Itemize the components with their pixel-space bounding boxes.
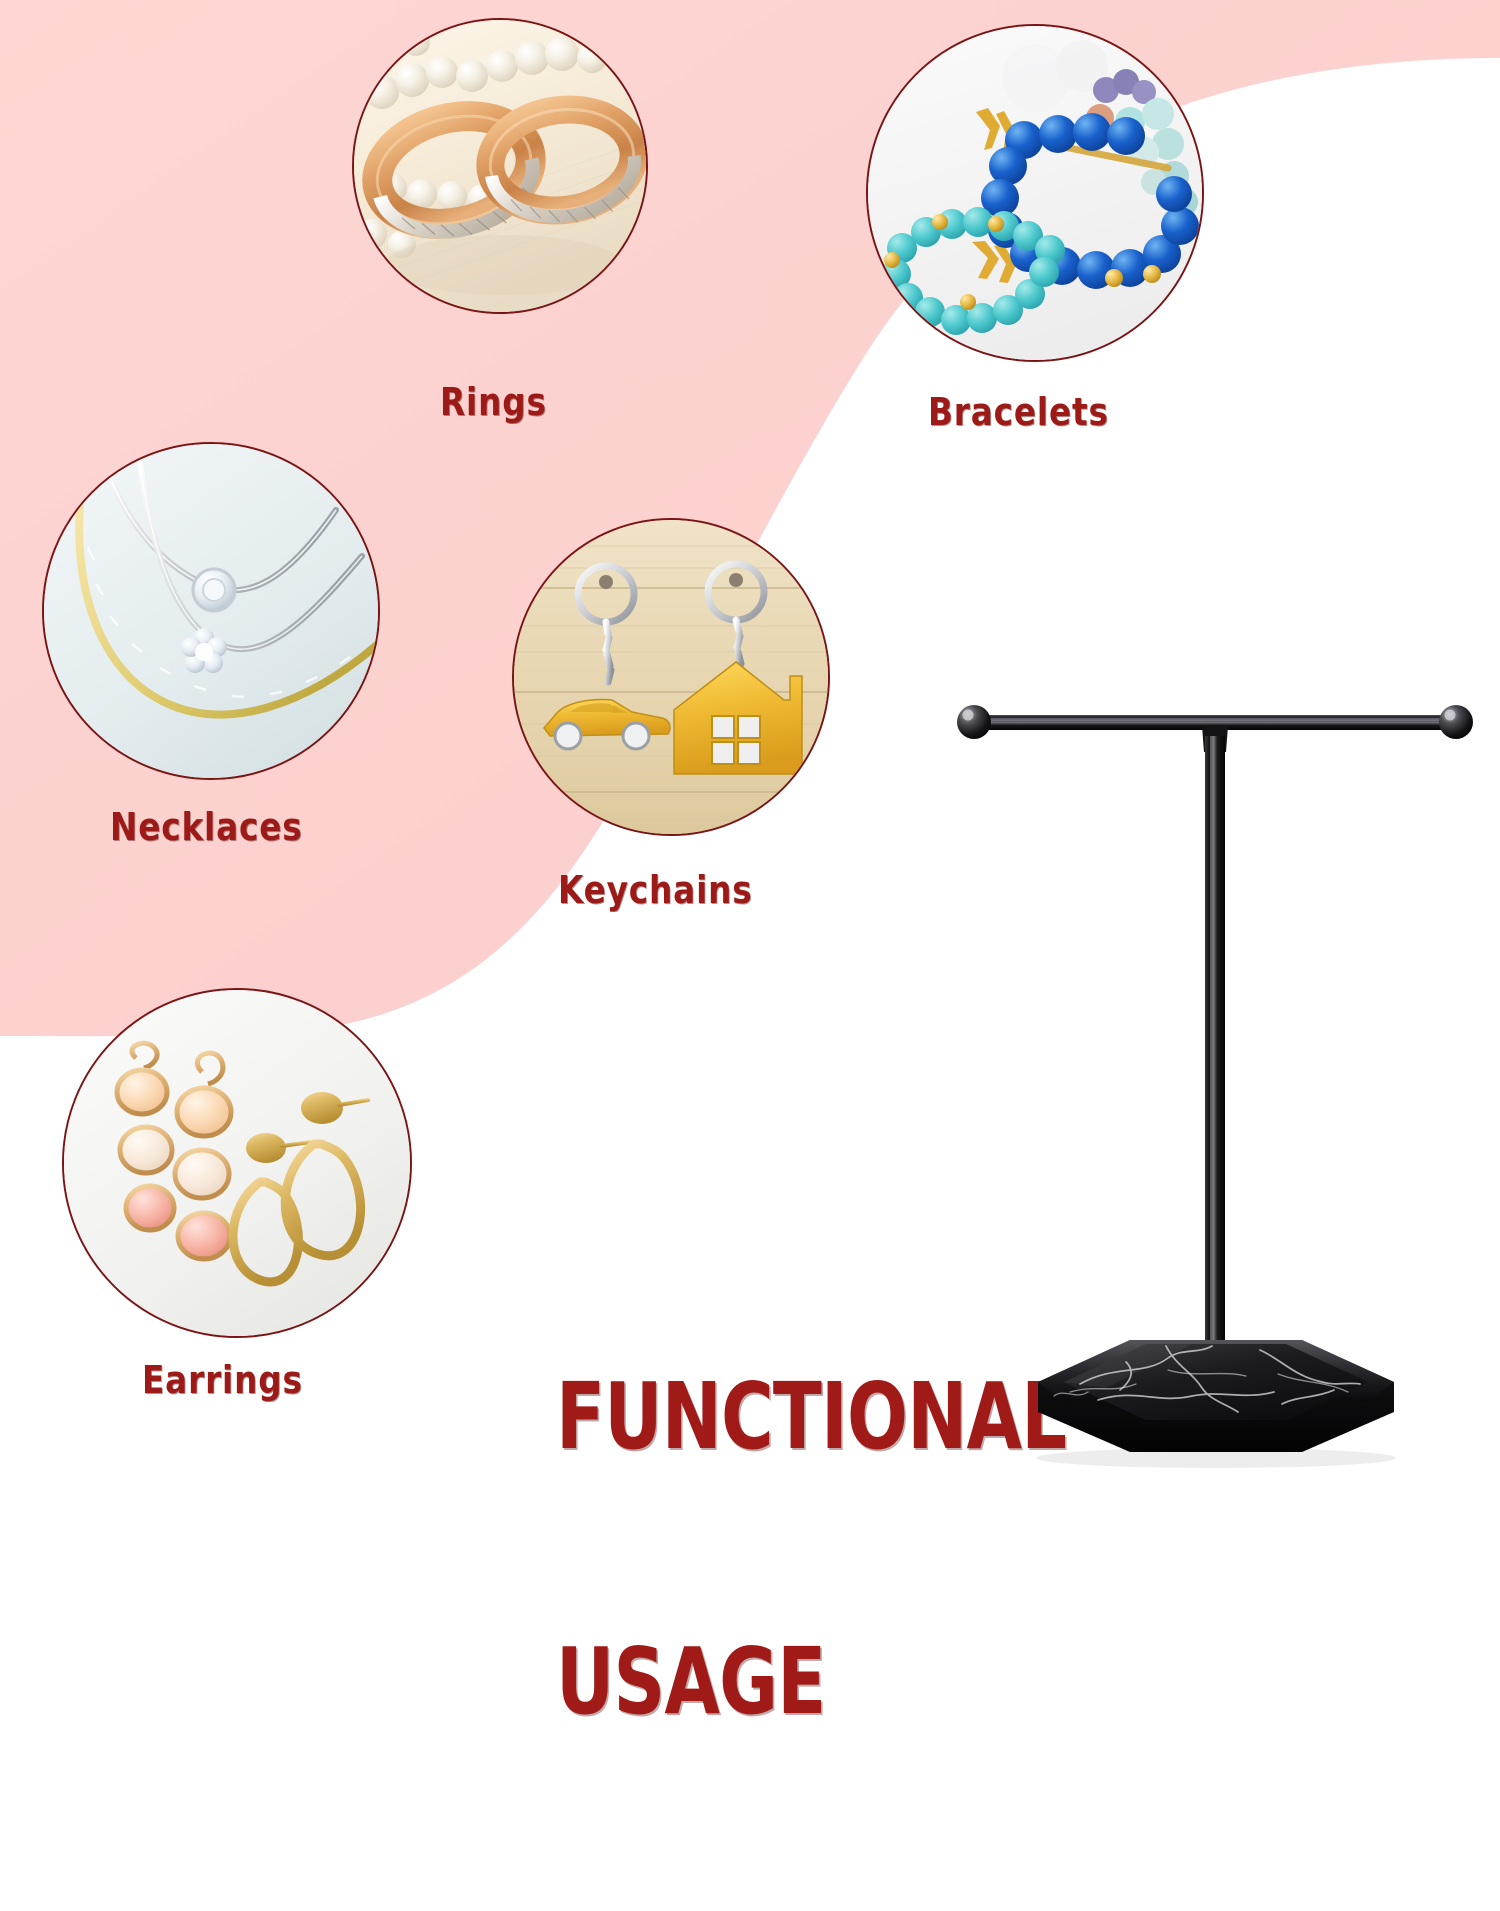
rings-photo — [354, 20, 648, 314]
category-tile-earrings[interactable] — [62, 988, 412, 1338]
necklaces-photo — [44, 444, 380, 780]
category-label-necklaces: Necklaces — [110, 805, 303, 849]
headline-line-2: USAGE — [556, 1638, 1066, 1726]
category-tile-rings[interactable] — [352, 18, 648, 314]
keychains-photo — [514, 520, 830, 836]
product-image-t-bar-jewelry-stand[interactable] — [930, 640, 1500, 1500]
category-tile-necklaces[interactable] — [42, 442, 380, 780]
category-label-bracelets: Bracelets — [928, 390, 1109, 434]
infographic-canvas: Rings — [0, 0, 1500, 1500]
category-tile-keychains[interactable] — [512, 518, 830, 836]
earrings-photo — [64, 990, 412, 1338]
bracelets-photo — [868, 26, 1204, 362]
category-label-keychains: Keychains — [558, 868, 753, 912]
category-label-rings: Rings — [440, 380, 547, 424]
category-label-earrings: Earrings — [142, 1358, 303, 1402]
category-tile-bracelets[interactable] — [866, 24, 1204, 362]
